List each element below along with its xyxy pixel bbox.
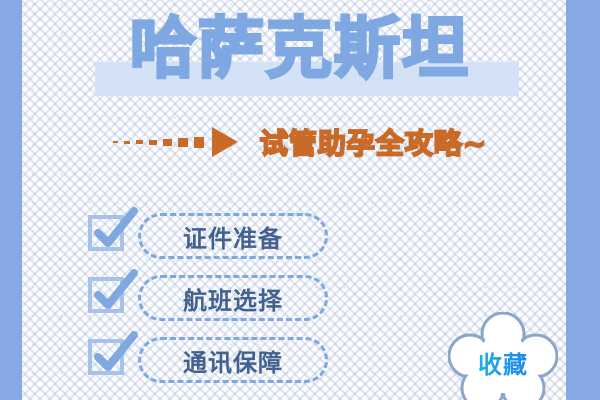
checklist-item-label: 证件准备 xyxy=(183,219,283,254)
favorite-badge-label: 收藏 xyxy=(448,345,558,380)
checklist-pill[interactable]: 航班选择 xyxy=(138,275,328,321)
checklist-item-label: 航班选择 xyxy=(183,281,283,316)
title-block: 哈萨克斯坦 xyxy=(0,4,600,104)
list-item[interactable]: 航班选择 xyxy=(88,267,388,329)
list-item[interactable]: 通讯保障 xyxy=(88,329,388,391)
arrow-dash xyxy=(149,140,157,145)
checkmark-icon xyxy=(90,209,136,255)
checklist-pill[interactable]: 证件准备 xyxy=(138,213,328,259)
checkmark-icon xyxy=(90,271,136,317)
arrow-dash xyxy=(113,141,118,143)
favorite-badge[interactable]: 收藏 xyxy=(448,312,558,400)
page-title: 哈萨克斯坦 xyxy=(0,6,600,92)
checkmark-icon xyxy=(90,333,136,379)
checklist-item-label: 通讯保障 xyxy=(183,343,283,378)
checklist: 证件准备 航班选择 通讯保障 xyxy=(88,205,388,391)
list-item[interactable]: 证件准备 xyxy=(88,205,388,267)
dashed-arrow-right-icon xyxy=(113,127,238,157)
arrow-dash xyxy=(124,141,130,144)
poster-canvas: 哈萨克斯坦 试管助孕全攻略~ 证件准备 xyxy=(0,0,600,400)
page-subtitle: 试管助孕全攻略~ xyxy=(260,122,487,162)
checklist-pill[interactable]: 通讯保障 xyxy=(138,337,328,383)
arrow-dash xyxy=(178,138,188,147)
arrow-dash xyxy=(163,139,172,146)
arrow-dash xyxy=(136,140,143,144)
subtitle-row: 试管助孕全攻略~ xyxy=(0,120,600,164)
checkbox-checked-icon[interactable] xyxy=(88,215,130,257)
checkbox-checked-icon[interactable] xyxy=(88,339,130,381)
arrow-head-icon xyxy=(212,127,238,157)
arrow-dash xyxy=(194,137,204,148)
checkbox-checked-icon[interactable] xyxy=(88,277,130,319)
